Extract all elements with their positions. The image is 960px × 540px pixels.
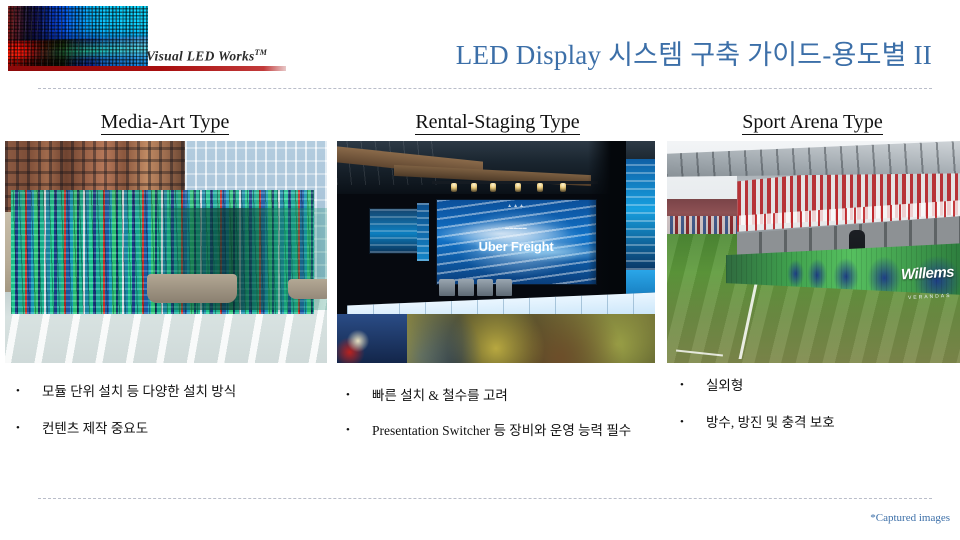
sport-arena-perimeter-led-photo: Willems VERANDAS	[667, 141, 960, 363]
photo2-screen-subtitle: ▬▬▬▬▬	[437, 225, 596, 230]
list-item-label: Presentation Switcher 등 장비와 운영 능력 필수	[372, 421, 660, 442]
photo2-main-led-screen: ▲▲▲ ▬▬▬▬▬ Uber Freight	[436, 199, 597, 285]
photo2-spotlight-6	[560, 183, 566, 192]
photo2-screen-headline: Uber Freight	[437, 239, 596, 254]
bullet-marker: •	[338, 421, 372, 441]
led-pixel-matrix-logo	[8, 6, 148, 66]
photo2-tall-led-panel	[417, 203, 430, 261]
photo2-spotlight-5	[537, 183, 543, 192]
bullet-marker: •	[8, 382, 42, 402]
slide: Visual LED WorksTM LED Display 시스템 구축 가이…	[0, 0, 960, 540]
brand-name-label: Visual LED Works	[146, 49, 255, 64]
brand-name: Visual LED WorksTM	[146, 48, 267, 65]
trademark-mark: TM	[255, 48, 268, 57]
column-heading-sport-arena: Sport Arena Type	[665, 111, 960, 134]
photo3-far-stand-seats	[667, 216, 743, 234]
list-item: • 방수, 방진 및 충격 보호	[672, 413, 960, 434]
bullet-marker: •	[672, 413, 706, 433]
photo1-planter	[147, 274, 237, 303]
divider-bottom	[38, 498, 932, 499]
list-item: • 빠른 설치 & 철수를 고려	[338, 386, 660, 407]
photo2-carpet-pattern-left	[337, 314, 407, 363]
photo1-planter-far	[288, 279, 327, 299]
rental-staging-stage-photo: ▲▲▲ ▬▬▬▬▬ Uber Freight	[337, 141, 655, 363]
list-item: • 실외형	[672, 376, 960, 397]
list-item: • Presentation Switcher 등 장비와 운영 능력 필수	[338, 421, 660, 442]
photo2-spotlight-4	[515, 183, 521, 192]
page-title: LED Display 시스템 구축 가이드-용도별 II	[456, 33, 932, 72]
photo2-stage-chair-2	[458, 279, 474, 297]
divider-top	[38, 88, 932, 89]
list-item: • 모듈 단위 설치 등 다양한 설치 방식	[8, 382, 328, 403]
column-heading-media-art-label: Media-Art Type	[101, 111, 230, 135]
photo2-spotlight-2	[471, 183, 477, 192]
list-item-label: 실외형	[706, 376, 960, 397]
photo2-spotlight-1	[451, 183, 457, 192]
column-heading-rental-staging: Rental-Staging Type	[335, 111, 660, 134]
list-item-label: 빠른 설치 & 철수를 고려	[372, 386, 660, 407]
media-art-led-columns-photo	[5, 141, 327, 363]
list-item-label: 컨텐츠 제작 중요도	[42, 419, 328, 440]
bullet-marker: •	[8, 419, 42, 439]
photo2-side-screen-left	[369, 208, 422, 254]
photo2-spotlight-3	[490, 183, 496, 192]
column-heading-sport-arena-label: Sport Arena Type	[742, 111, 882, 135]
brand-accent-bar	[8, 66, 286, 71]
logo-pixel-perspective	[8, 6, 148, 66]
photo2-stage-chair-3	[477, 279, 493, 297]
bullet-list-media-art: • 모듈 단위 설치 등 다양한 설치 방식 • 컨텐츠 제작 중요도	[8, 382, 328, 456]
photo3-ad-brand-label: Willems	[901, 264, 955, 284]
photo2-right-shadow	[588, 141, 626, 301]
bullet-marker: •	[338, 386, 372, 406]
photo2-screen-corner-logo: ▲▲▲	[437, 203, 596, 209]
bullet-list-rental-staging: • 빠른 설치 & 철수를 고려 • Presentation Switcher…	[338, 386, 660, 456]
list-item-label: 모듈 단위 설치 등 다양한 설치 방식	[42, 382, 328, 403]
photo2-stage-chair-1	[439, 279, 455, 297]
column-heading-rental-staging-label: Rental-Staging Type	[415, 111, 579, 135]
list-item: • 컨텐츠 제작 중요도	[8, 419, 328, 440]
bullet-marker: •	[672, 376, 706, 396]
photo2-stage-chair-4	[496, 279, 512, 297]
photo2-side-screen-right	[626, 159, 655, 270]
column-heading-media-art: Media-Art Type	[0, 111, 330, 134]
bullet-list-sport-arena: • 실외형 • 방수, 방진 및 충격 보호	[672, 376, 960, 450]
list-item-label: 방수, 방진 및 충격 보호	[706, 413, 960, 434]
footnote: *Captured images	[870, 512, 950, 524]
